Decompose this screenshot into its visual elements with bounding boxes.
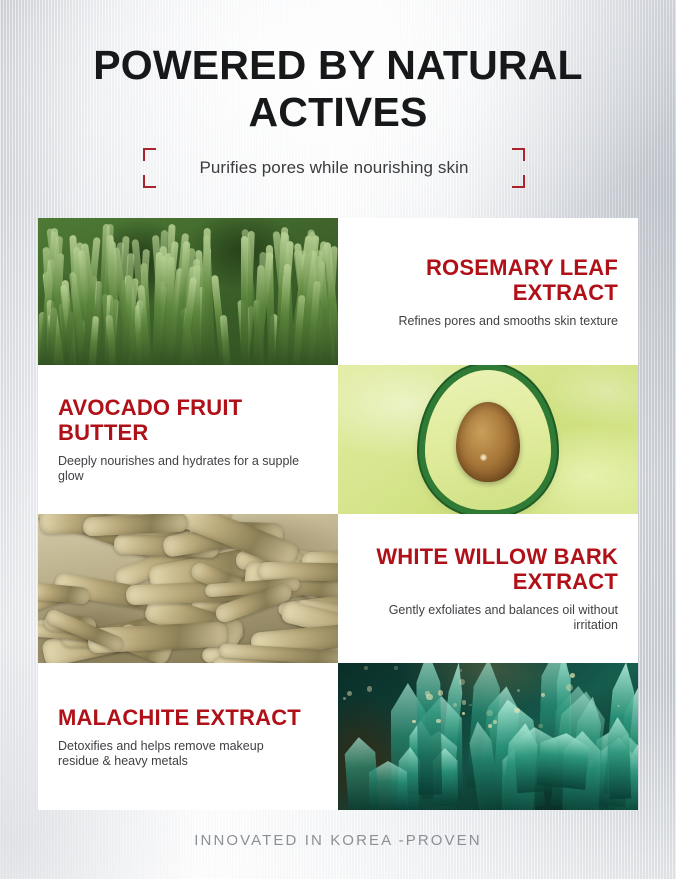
infographic-page: POWERED BY NATURAL ACTIVES Purifies pore… — [0, 0, 676, 879]
subtitle-bracket-frame: Purifies pores while nourishing skin — [143, 148, 525, 188]
ingredient-body: Detoxifies and helps remove makeup resid… — [58, 739, 308, 769]
avocado-pit-shape — [456, 402, 520, 482]
ingredient-heading: WHITE WILLOW BARK EXTRACT — [358, 544, 618, 594]
ingredient-card-rosemary: ROSEMARY LEAF EXTRACT Refines pores and … — [338, 218, 638, 365]
ingredient-card-white-willow: WHITE WILLOW BARK EXTRACT Gently exfolia… — [338, 514, 638, 663]
ingredient-heading: ROSEMARY LEAF EXTRACT — [358, 255, 618, 305]
avocado-half-photo — [338, 365, 638, 514]
willow-bark-bundle-photo — [38, 514, 338, 663]
malachite-crystal-photo — [338, 663, 638, 810]
ingredient-heading: MALACHITE EXTRACT — [58, 705, 301, 730]
ingredient-heading: AVOCADO FRUIT BUTTER — [58, 395, 318, 445]
ingredient-card-malachite: MALACHITE EXTRACT Detoxifies and helps r… — [38, 663, 338, 810]
page-title: POWERED BY NATURAL ACTIVES — [0, 42, 676, 136]
ingredient-grid: ROSEMARY LEAF EXTRACT Refines pores and … — [38, 218, 638, 810]
page-subtitle: Purifies pores while nourishing skin — [143, 148, 525, 188]
ingredient-body: Refines pores and smooths skin texture — [398, 314, 618, 329]
ingredient-card-avocado: AVOCADO FRUIT BUTTER Deeply nourishes an… — [38, 365, 338, 514]
ingredient-body: Deeply nourishes and hydrates for a supp… — [58, 454, 308, 484]
rosemary-plant-photo — [38, 218, 338, 365]
footer-tagline: INNOVATED IN KOREA -PROVEN — [0, 832, 676, 849]
ingredient-body: Gently exfoliates and balances oil witho… — [368, 603, 618, 633]
